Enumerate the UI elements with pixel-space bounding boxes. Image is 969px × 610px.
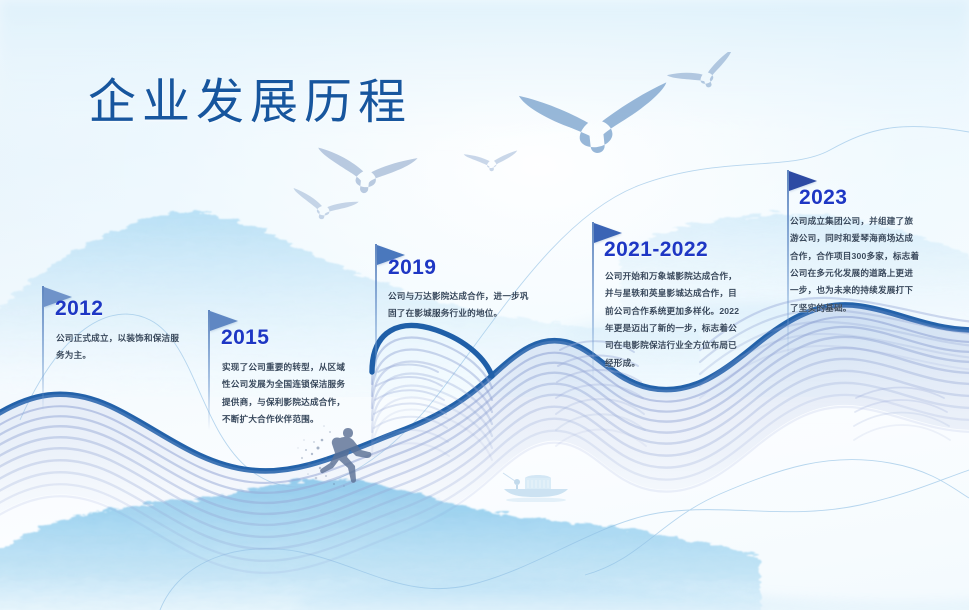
milestone-year-2012: 2012	[55, 297, 103, 321]
milestone-description-2023: 公司成立集团公司，并组建了旅游公司，同时和爱琴海商场达成合作，合作项目300多家…	[790, 213, 920, 317]
flag-pole	[592, 222, 594, 382]
milestone-year-2019: 2019	[388, 256, 436, 280]
flag-pole	[787, 170, 789, 358]
bird-small-left-icon	[288, 185, 360, 225]
fold-column-far-right	[854, 388, 950, 441]
page-title: 企业发展历程	[88, 62, 412, 132]
milestone-description-2021-2022: 公司开始和万象城影院达成合作，并与星轶和英皇影城达成合作，目前公司合作系统更加多…	[605, 268, 741, 372]
milestone-description-2012: 公司正式成立，以装饰和保洁服务为主。	[56, 330, 182, 365]
ribbon-fold-outline	[372, 326, 492, 376]
bird-large-icon	[516, 78, 676, 164]
bird-far-right-icon	[666, 52, 742, 94]
ribbon-fold-loop	[372, 326, 492, 460]
poster-canvas: 企业发展历程 2012公司正式成立，以装饰和保洁服务为主。2015实现了公司重要…	[0, 0, 969, 610]
particle-runner-icon	[296, 418, 380, 492]
flag-pole	[375, 244, 377, 384]
wash-bottom-mountain	[0, 479, 760, 610]
milestone-year-2021-2022: 2021-2022	[604, 238, 708, 262]
milestone-year-2015: 2015	[221, 326, 269, 350]
bird-small-mid-icon	[462, 144, 520, 176]
fold-column-left	[374, 365, 449, 457]
milestone-description-2015: 实现了公司重要的转型，从区域性公司发展为全国连锁保洁服务提供商，与保利影院达成合…	[222, 359, 349, 428]
wash-bottom-haze	[300, 579, 969, 610]
bird-medium-icon	[312, 142, 420, 200]
milestone-description-2019: 公司与万达影院达成合作，进一步巩固了在影城服务行业的地位。	[388, 288, 531, 323]
milestone-year-2023: 2023	[799, 186, 847, 210]
fishing-boat-icon	[498, 468, 574, 502]
